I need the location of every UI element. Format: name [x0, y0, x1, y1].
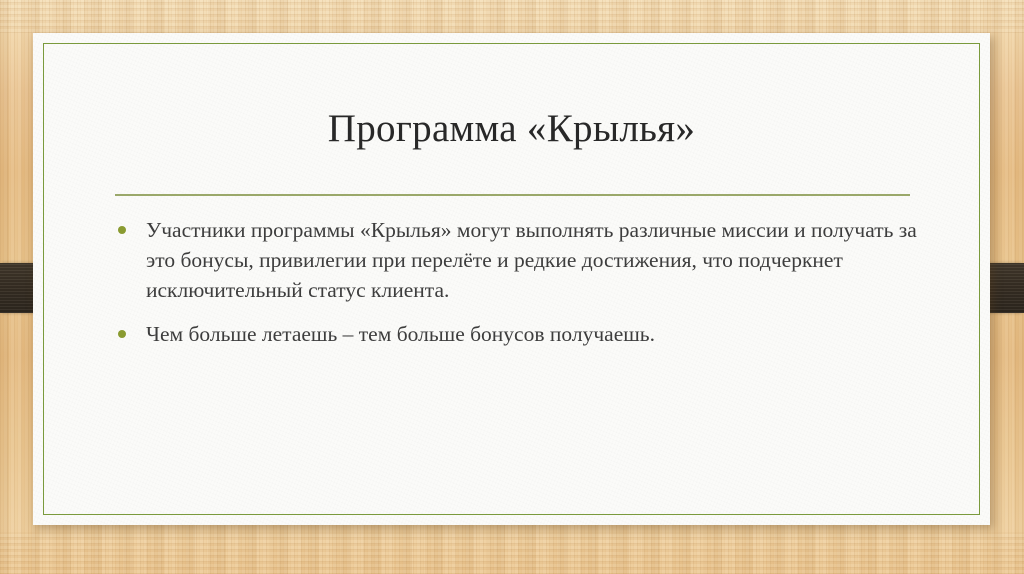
wood-grain-band-bottom [0, 532, 1024, 574]
wood-grain-band-top [0, 0, 1024, 33]
title-divider-rule [115, 194, 910, 196]
list-item: Участники программы «Крылья» могут выпол… [108, 215, 928, 305]
bullet-dot-icon [118, 226, 126, 234]
slide-paper-card: Программа «Крылья» Участники программы «… [33, 33, 990, 525]
bullet-dot-icon [118, 330, 126, 338]
bullet-list: Участники программы «Крылья» могут выпол… [108, 215, 928, 349]
slide-title: Программа «Крылья» [93, 106, 930, 152]
slide-content: Программа «Крылья» Участники программы «… [33, 33, 990, 525]
presentation-slide: Программа «Крылья» Участники программы «… [0, 0, 1024, 574]
list-item-text: Чем больше летаешь – тем больше бонусов … [146, 319, 928, 349]
list-item-text: Участники программы «Крылья» могут выпол… [146, 215, 928, 305]
list-item: Чем больше летаешь – тем больше бонусов … [108, 319, 928, 349]
